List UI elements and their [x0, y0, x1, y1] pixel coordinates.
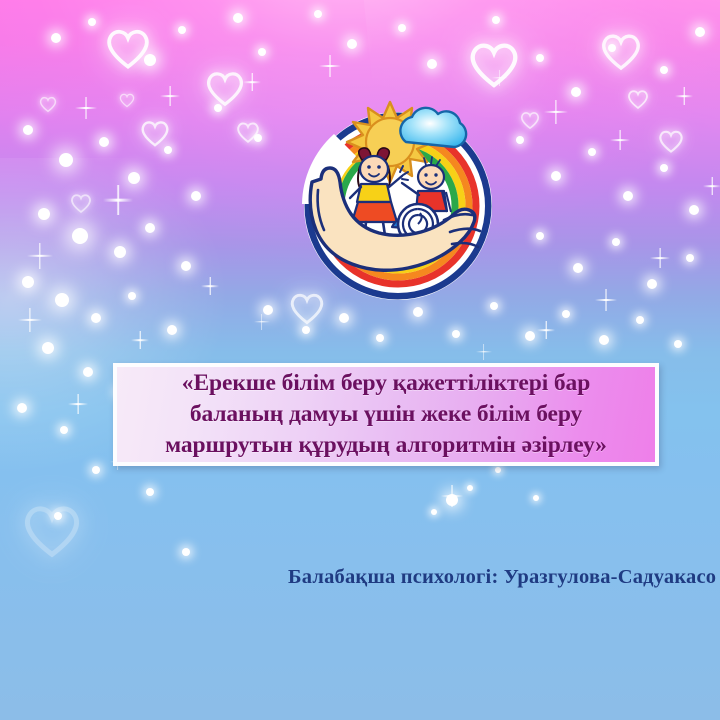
sparkle-star	[689, 205, 699, 215]
sparkle-star	[544, 100, 568, 124]
sparkle-star	[599, 335, 609, 345]
sparkle-star	[214, 104, 222, 112]
sparkle-star	[427, 59, 437, 69]
slide-title-text: «Ерекше білім беру қажеттіліктері барбал…	[117, 368, 655, 462]
sparkle-star	[22, 276, 34, 288]
sparkle-star	[347, 39, 357, 49]
sparkle-star	[38, 208, 50, 220]
sparkle-star	[17, 403, 27, 413]
sparkle-star	[182, 548, 190, 556]
sparkle-star	[675, 87, 693, 105]
glowing-heart	[468, 38, 520, 90]
glowing-heart	[600, 30, 642, 72]
sparkle-star	[178, 26, 186, 34]
sparkle-star	[612, 238, 620, 246]
sparkle-star	[319, 55, 341, 77]
sparkle-star	[490, 302, 498, 310]
slide-title-box: «Ерекше білім беру қажеттіліктері барбал…	[113, 363, 659, 466]
sparkle-star	[18, 308, 42, 332]
sparkle-star	[636, 316, 644, 324]
sparkle-star	[145, 223, 155, 233]
sparkle-star	[492, 16, 500, 24]
sparkle-star	[201, 277, 219, 295]
glowing-heart	[119, 92, 135, 108]
sparkle-star	[446, 494, 458, 506]
sparkle-star	[571, 87, 581, 97]
sparkle-star	[431, 509, 437, 515]
sparkle-star	[51, 33, 61, 43]
glowing-heart	[105, 25, 151, 71]
sparkle-star	[72, 228, 88, 244]
sparkle-star	[302, 326, 310, 334]
sparkle-star	[55, 293, 69, 307]
sparkle-star	[54, 512, 62, 520]
sparkle-star	[160, 86, 180, 106]
sparkle-star	[191, 191, 201, 201]
sparkle-star	[536, 54, 544, 62]
sparkle-star	[144, 54, 156, 66]
glowing-heart	[39, 95, 57, 113]
sparkle-star	[92, 466, 100, 474]
glowing-heart	[520, 110, 540, 130]
sparkle-star	[254, 134, 262, 142]
sparkle-star	[128, 292, 136, 300]
sparkle-star	[114, 246, 126, 258]
sparkle-star	[91, 313, 101, 323]
sparkle-star	[23, 125, 33, 135]
sparkle-star	[75, 97, 97, 119]
glowing-heart	[205, 68, 245, 108]
sparkle-star	[516, 136, 524, 144]
sparkle-star	[339, 313, 349, 323]
sparkle-star	[68, 394, 88, 414]
sparkle-star	[103, 185, 133, 215]
sparkle-star	[398, 24, 406, 32]
sparkle-star	[588, 148, 596, 156]
sparkle-star	[27, 243, 53, 269]
sparkle-star	[243, 73, 261, 91]
sparkle-star	[42, 342, 54, 354]
sparkle-star	[686, 254, 694, 262]
sparkle-star	[660, 164, 668, 172]
glowing-heart	[22, 500, 82, 560]
sparkle-star	[258, 48, 266, 56]
sparkle-star	[233, 13, 243, 23]
sparkle-star	[164, 146, 172, 154]
presentation-slide: «Ерекше білім беру қажеттіліктері барбал…	[0, 0, 720, 720]
sparkle-star	[608, 44, 616, 52]
slide-title-line-2: баланың дамуы үшін жеке білім беру	[123, 399, 649, 430]
sparkle-star	[492, 70, 508, 86]
sparkle-star	[533, 495, 539, 501]
sparkle-star	[314, 10, 322, 18]
sparkle-star	[674, 340, 682, 348]
sparkle-star	[263, 305, 273, 315]
sparkle-star	[167, 325, 177, 335]
sparkle-star	[99, 137, 109, 147]
sparkle-star	[181, 261, 191, 271]
sparkle-star	[59, 153, 73, 167]
sparkle-star	[467, 485, 473, 491]
sparkle-star	[88, 18, 96, 26]
sparkle-star	[703, 177, 720, 195]
sparkle-star	[573, 263, 583, 273]
slide-title-line-3: маршрутын құрудың алгоритмін әзірлеу»	[123, 430, 649, 461]
glowing-heart	[140, 118, 170, 148]
glowing-heart	[70, 192, 92, 214]
inclusive-education-emblem-icon	[294, 86, 506, 302]
sparkle-star	[83, 367, 93, 377]
sparkle-star	[562, 310, 570, 318]
sparkle-star	[660, 66, 668, 74]
sparkle-star	[441, 485, 463, 507]
sparkle-star	[525, 331, 535, 341]
sparkle-star	[623, 191, 633, 201]
presenter-credit: Балабақша психологі: Уразгулова-Садуакас…	[288, 566, 720, 589]
sparkle-star	[495, 467, 501, 473]
sparkle-star	[476, 344, 492, 360]
sparkle-star	[537, 321, 555, 339]
sparkle-star	[60, 426, 68, 434]
sparkle-star	[254, 314, 270, 330]
slide-title-line-1: «Ерекше білім беру қажеттіліктері бар	[123, 368, 649, 399]
sparkle-star	[647, 279, 657, 289]
sparkle-star	[131, 331, 149, 349]
sparkle-star	[536, 232, 544, 240]
glowing-heart	[236, 120, 260, 144]
sparkle-star	[551, 171, 561, 181]
sparkle-star	[128, 172, 140, 184]
sparkle-star	[376, 334, 384, 342]
sparkle-star	[595, 289, 617, 311]
sparkle-star	[610, 130, 630, 150]
sparkle-star	[146, 488, 154, 496]
glowing-heart	[627, 88, 649, 110]
glowing-heart	[658, 128, 684, 154]
sparkle-star	[650, 248, 670, 268]
sparkle-star	[413, 307, 423, 317]
sparkle-star	[452, 330, 460, 338]
sparkle-star	[695, 27, 705, 37]
